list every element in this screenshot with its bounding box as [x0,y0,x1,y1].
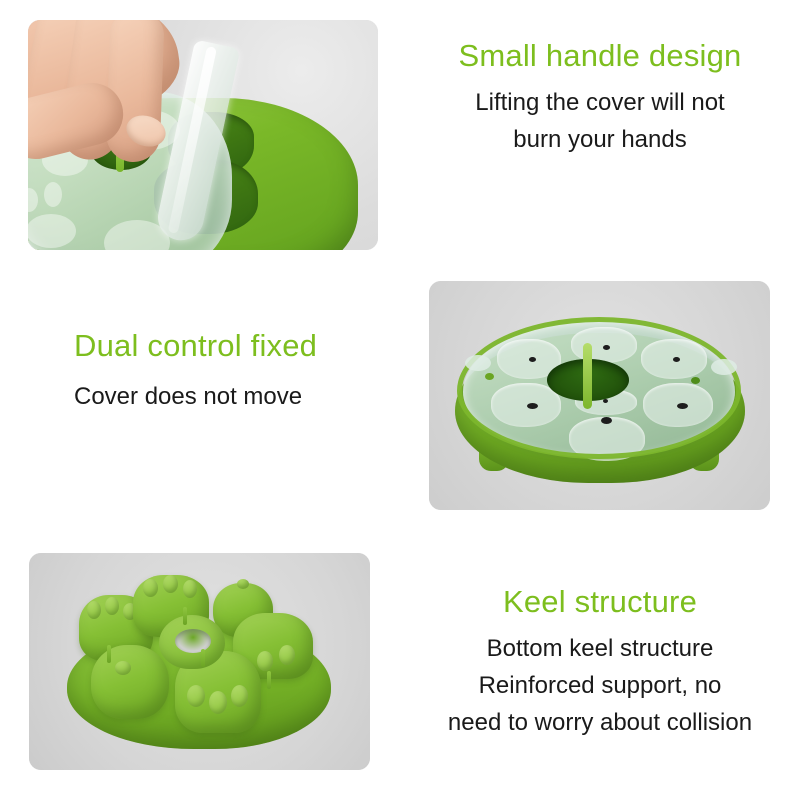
feature-text-keel-structure: Keel structure Bottom keel structure Rei… [410,582,790,741]
feature-heading: Dual control fixed [74,326,414,366]
feature-body-line: Bottom keel structure [410,630,790,667]
bear-ear [237,579,249,589]
paw-toe [183,580,197,598]
cover-paw-pad [28,214,76,248]
feature-body-line: burn your hands [410,121,790,158]
bear-ear [115,661,131,675]
feature-body-line: Lifting the cover will not [410,84,790,121]
center-handle-bar [583,343,592,409]
base-stud-left [485,373,494,380]
paw-toe [209,691,227,714]
feature-body-line: need to worry about collision [410,704,790,741]
paw-toe [87,601,101,619]
base-stud-right [691,377,700,384]
keel-rib [107,645,111,663]
feature-text-dual-control-fixed: Dual control fixed Cover does not move [74,326,414,415]
cover-lock-tab-left [465,355,491,371]
feature-heading: Small handle design [410,36,790,76]
keel-rib [201,649,205,667]
paw-toe [279,645,295,665]
feature-body-line: Reinforced support, no [410,667,790,704]
keel-center-ring [159,615,225,669]
keel-rib [267,671,271,689]
keel-bear-form [91,645,169,719]
feature-body-line: Cover does not move [74,378,414,415]
paw-toe [105,597,119,615]
paw-toe [143,579,158,597]
keel-rib [183,607,187,625]
assembled-mold-with-cover-photo [429,281,770,510]
paw-toe [231,685,248,707]
paw-toe [163,575,178,593]
cover-lock-tab-right [711,359,737,375]
cover-paw-toe [28,188,38,212]
inverted-mold-keel-photo [29,553,370,770]
feature-heading: Keel structure [410,582,790,622]
paw-toe [257,651,273,671]
paw-toe [187,685,205,707]
infographic-canvas: Small handle design Lifting the cover wi… [0,0,800,800]
feature-text-small-handle-design: Small handle design Lifting the cover wi… [410,36,790,158]
hand-lifting-cover-photo [28,20,378,250]
center-hole [547,359,629,401]
human-hand [28,20,228,188]
